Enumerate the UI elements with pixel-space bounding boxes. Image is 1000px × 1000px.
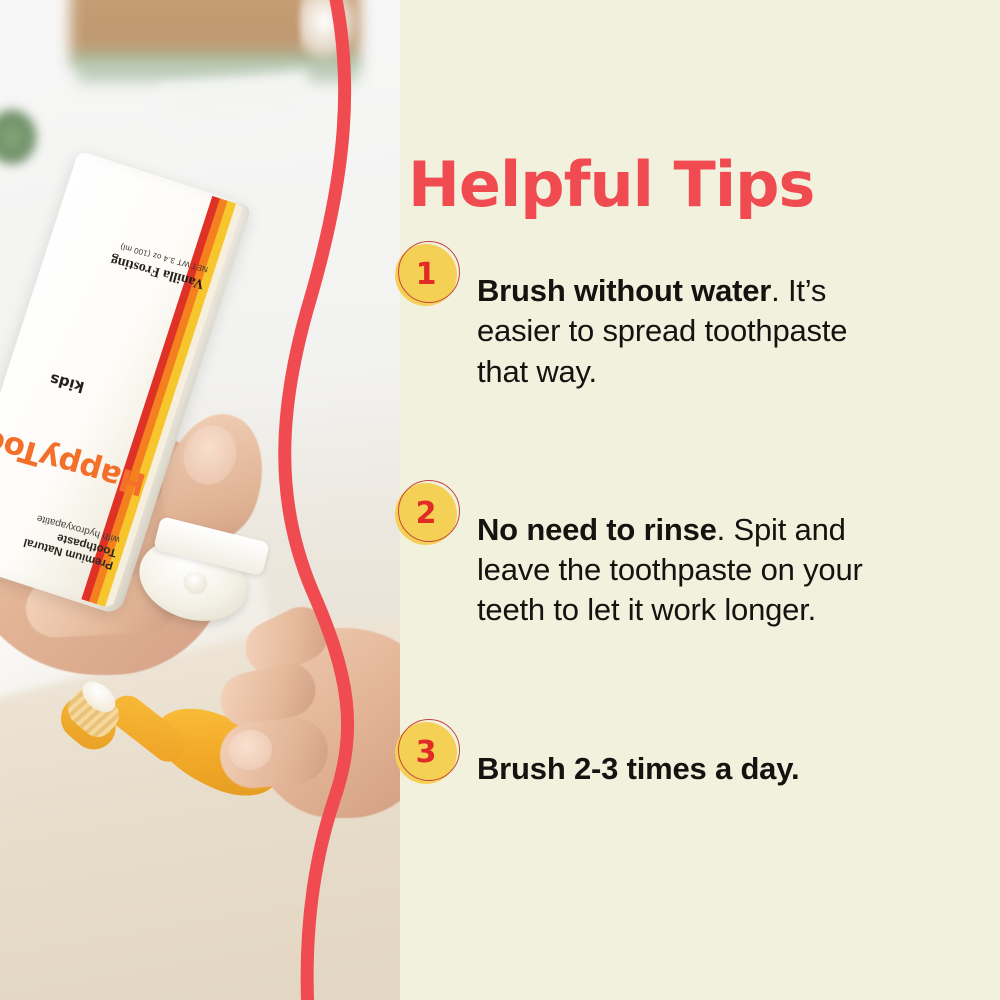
helpful-tips-infographic: HappyTooth kids Premium Natural Toothpas… xyxy=(0,0,1000,1000)
badge-number: 2 xyxy=(395,483,457,545)
hand-holding-toothbrush xyxy=(214,612,400,882)
tip-item: 2 No need to rinse. Spit and leave the t… xyxy=(395,479,1000,662)
tube-flavor: Vanilla Frosting NET WT 3.4 oz (100 ml) xyxy=(57,226,209,291)
brand-audience-label: kids xyxy=(48,370,86,396)
tip-number-badge: 1 xyxy=(395,244,457,306)
tip-item: 3 Brush 2-3 times a day. xyxy=(395,718,1000,820)
background-sprig xyxy=(300,0,360,64)
background-plant xyxy=(0,108,38,166)
tip-number-badge: 2 xyxy=(395,483,457,545)
tip-text: Brush without water. It’s easier to spre… xyxy=(477,271,897,392)
tips-panel: Helpful Tips 1 Brush without water. It’s… xyxy=(395,0,1000,1000)
tip-lead: No need to rinse xyxy=(477,512,717,547)
tips-list: 1 Brush without water. It’s easier to sp… xyxy=(395,240,1000,820)
tip-lead: Brush 2-3 times a day. xyxy=(477,751,799,786)
tip-item: 1 Brush without water. It’s easier to sp… xyxy=(395,240,1000,423)
badge-number: 1 xyxy=(395,244,457,306)
tube-tagline: Premium Natural Toothpaste with hydroxya… xyxy=(0,495,121,571)
tip-number-badge: 3 xyxy=(395,722,457,784)
badge-number: 3 xyxy=(395,722,457,784)
product-photo: HappyTooth kids Premium Natural Toothpas… xyxy=(0,0,400,1000)
tip-text: Brush 2-3 times a day. xyxy=(477,749,897,789)
tip-text: No need to rinse. Spit and leave the too… xyxy=(477,510,897,631)
page-title: Helpful Tips xyxy=(408,154,814,216)
brand-wordmark: HappyTooth xyxy=(25,437,148,498)
tip-lead: Brush without water xyxy=(477,273,771,308)
